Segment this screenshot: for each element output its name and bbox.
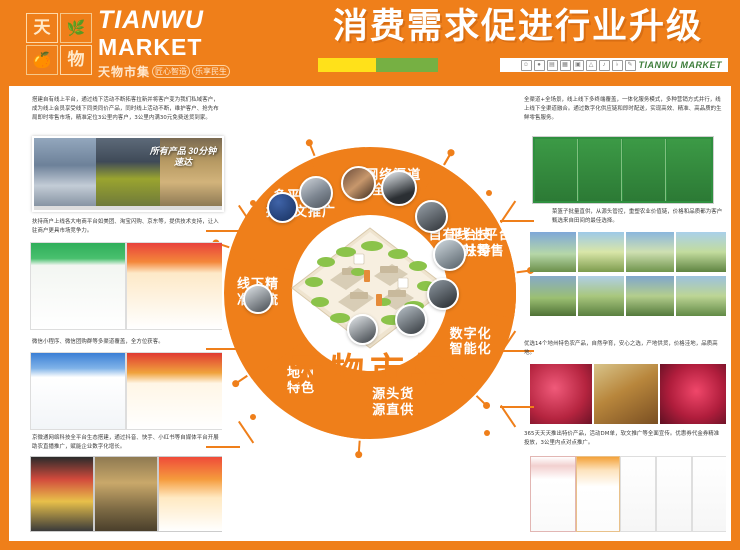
note-icon: ✎	[625, 60, 636, 71]
right-panel-2-images	[530, 364, 726, 426]
box-icon: ▣	[573, 60, 584, 71]
left-panel-2-images	[30, 352, 222, 430]
bubble-photo-4	[381, 170, 417, 206]
fruit-basket-photo	[594, 364, 658, 424]
poster-canvas: 天 🌿 🍊 物 TIANWU MARKET 天物市集 匠心智造 乐享民生 消费需…	[0, 0, 740, 550]
ev-fleet-photo	[34, 138, 96, 206]
left-panel-2-text: 微信小程序、微信团购群等多渠道覆盖，全方位获客。	[32, 338, 222, 347]
logo-cell-wu: 物	[60, 45, 92, 75]
left-panel-0-caption: 所有产品 30分钟速达	[146, 146, 220, 169]
farm-photo-1	[530, 232, 576, 272]
right-panel-0-text: 全渠道+全场景，线上线下多终端覆盖，一体化服务模式，多种营销方式并行，线上线下全…	[524, 96, 722, 122]
poster-title: 消费需求促进行业升级	[312, 10, 724, 45]
brand-en-label: TIANWU MARKET	[639, 60, 723, 70]
market-aisle-photo	[94, 456, 158, 532]
fruit-icon: 🍊	[26, 45, 58, 75]
left-panel-0-images: 所有产品 30分钟速达	[32, 136, 224, 212]
petal-dot-regional	[355, 451, 362, 458]
accent-icon-row: ☺ ● ▤ ▦ ▣ △ ♪ ♭ ✎	[521, 60, 636, 71]
dm-flyer-red	[530, 456, 576, 532]
apple-icon: ●	[534, 60, 545, 71]
logo-en-line2: MARKET	[98, 35, 230, 60]
logo-glyph-grid: 天 🌿 🍊 物	[26, 13, 92, 75]
meituan-app-screens	[30, 242, 126, 330]
left-panel-0-text: 搭建自有线上平台，通过线下活动不断拓客拉新并将客户变为我们私域客户，成为线上会员…	[32, 96, 222, 122]
green-brochure-panel-1	[535, 139, 578, 201]
right-panel-0-images	[532, 136, 714, 204]
farm-photo-2	[578, 232, 624, 272]
cart-icon: ▤	[547, 60, 558, 71]
right-panel-3-text: 365天天天推出特价产品，活动DM单，软文推广等全面宣传。优惠券代金券精准投放，…	[524, 430, 722, 448]
bubble-photo-1	[267, 192, 298, 223]
dragonfruit-photo	[530, 364, 592, 424]
left-panel-3-images	[30, 456, 222, 532]
left-panel-3-text: 京微通网络科技全平台生态搭建，通过抖音、快手、小红书等自媒体平台开展助农直播推广…	[32, 434, 222, 452]
bubble-photo-10	[243, 284, 273, 314]
farm-photo-5	[530, 276, 576, 316]
bag-icon: △	[586, 60, 597, 71]
logo-cn-row: 天物市集 匠心智造 乐享民生	[98, 63, 230, 80]
farm-photo-8	[676, 276, 726, 316]
accent-seg-yellow	[318, 58, 376, 72]
dm-list-3	[692, 456, 726, 532]
accent-seg-orange	[438, 58, 500, 72]
bubble-photo-7	[427, 278, 459, 310]
brand-logo: 天 🌿 🍊 物 TIANWU MARKET 天物市集 匠心智造 乐享民生	[26, 8, 230, 80]
farm-photo-7	[626, 276, 674, 316]
sprig-icon: 🌿	[60, 13, 92, 43]
right-panel-1-text: 菜篮子批量直供，从源头管控，重塑农业价值链，价格和品质都为客户甄选来自田间的最佳…	[552, 208, 724, 226]
poster-title-text: 消费需求促进行业升级	[312, 10, 724, 45]
bubble-photo-3	[341, 166, 376, 201]
petal-dot-network-cover	[306, 139, 313, 146]
logo-wordmark: TIANWU MARKET 天物市集 匠心智造 乐享民生	[98, 8, 230, 80]
left-panel-1-text: 扶持商户上线各大电商平台如美团、淘宝闪购、京东等，提供技术支持，让入驻商户更具市…	[32, 218, 222, 236]
green-brochure-panel-3	[623, 139, 666, 201]
farm-photo-4	[676, 232, 726, 272]
connector-right-0	[478, 186, 534, 222]
green-brochure-panel-2	[579, 139, 622, 201]
leaf-icon: ☺	[521, 60, 532, 71]
farm-photo-3	[626, 232, 674, 272]
right-panel-2-text: 优选14个地州特色农产品，自然孕育，安心之选，产地供货，价格洼地，品质高地。	[524, 340, 722, 358]
logo-tag-0: 匠心智造	[152, 65, 190, 78]
logo-en-line1: TIANWU	[98, 8, 230, 33]
dm-list-1	[620, 456, 656, 532]
logo-cn-tag-group: 匠心智造 乐享民生	[152, 65, 230, 78]
left-panel-1-images	[30, 242, 222, 330]
pomegranate-photo	[660, 364, 726, 424]
logo-tag-1: 乐享民生	[192, 65, 230, 78]
right-panel-1-images-row2	[530, 276, 726, 318]
bubble-photo-2	[299, 176, 333, 210]
logo-char-wu: 物	[68, 52, 85, 69]
accent-seg-white: ☺ ● ▤ ▦ ▣ △ ♪ ♭ ✎ TIANWU MARKET	[500, 58, 728, 72]
phone-icon: ♭	[612, 60, 623, 71]
livestream-grid-photo	[30, 456, 94, 532]
logo-cn-name: 天物市集	[98, 63, 150, 80]
basket-icon: ▦	[560, 60, 571, 71]
right-panel-1-images-row1	[530, 232, 726, 274]
dm-flyer-orange	[576, 456, 620, 532]
wechat-miniprogram-screens	[30, 352, 126, 430]
frame-bottom-border	[0, 541, 740, 550]
accent-seg-green	[376, 58, 438, 72]
petal-dot-tech-support	[448, 149, 455, 156]
frame-right-border	[731, 0, 740, 550]
dm-list-2	[656, 456, 692, 532]
logo-cell-tian: 天	[26, 13, 58, 43]
right-panel-3-images	[530, 456, 726, 532]
truck-icon: ♪	[599, 60, 610, 71]
promo-cards-photo	[158, 456, 222, 532]
bubble-photo-9	[347, 314, 378, 345]
bubble-photo-5	[415, 200, 448, 233]
frame-left-border	[0, 0, 9, 550]
bubble-photo-6	[433, 238, 466, 271]
title-accent-bar: ☺ ● ▤ ▦ ▣ △ ♪ ♭ ✎ TIANWU MARKET	[318, 58, 728, 72]
logo-char-tian: 天	[34, 20, 51, 37]
bubble-photo-8	[395, 304, 427, 336]
green-brochure-panel-4	[667, 139, 711, 201]
farm-photo-6	[578, 276, 624, 316]
